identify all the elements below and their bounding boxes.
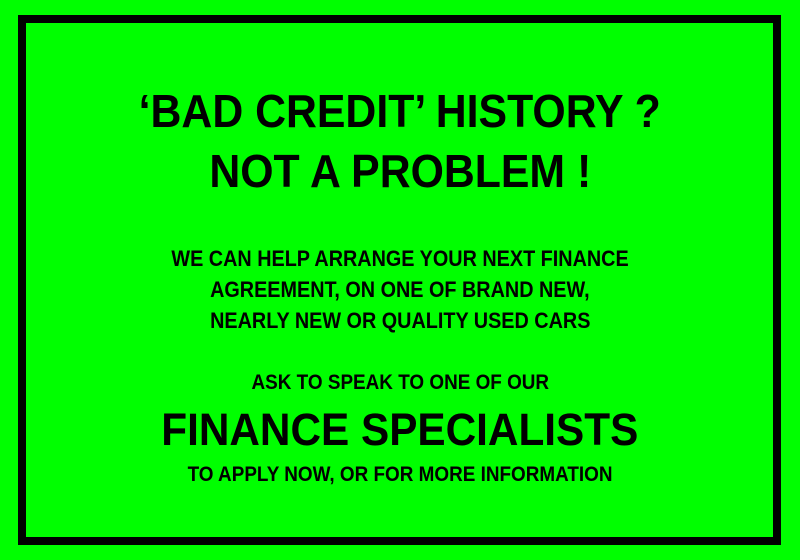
headline-line-2: NOT A PROBLEM ! — [209, 148, 591, 194]
body-paragraph-block: WE CAN HELP ARRANGE YOUR NEXT FINANCE AG… — [146, 248, 654, 332]
headline-block: ‘BAD CREDIT’ HISTORY ? NOT A PROBLEM ! — [119, 88, 680, 194]
headline-line-1: ‘BAD CREDIT’ HISTORY ? — [139, 88, 661, 134]
body-line-3: NEARLY NEW OR QUALITY USED CARS — [210, 310, 590, 332]
body-line-2: AGREEMENT, ON ONE OF BRAND NEW, — [210, 279, 590, 301]
cta-headline: FINANCE SPECIALISTS — [161, 407, 638, 452]
cta-intro-line: ASK TO SPEAK TO ONE OF OUR — [251, 372, 549, 393]
advertisement-poster: ‘BAD CREDIT’ HISTORY ? NOT A PROBLEM ! W… — [0, 0, 800, 560]
body-line-1: WE CAN HELP ARRANGE YOUR NEXT FINANCE — [171, 248, 628, 270]
call-to-action-block: ASK TO SPEAK TO ONE OF OUR FINANCE SPECI… — [146, 372, 654, 485]
cta-footer-line: TO APPLY NOW, OR FOR MORE INFORMATION — [188, 464, 613, 485]
poster-content: ‘BAD CREDIT’ HISTORY ? NOT A PROBLEM ! W… — [0, 0, 800, 560]
